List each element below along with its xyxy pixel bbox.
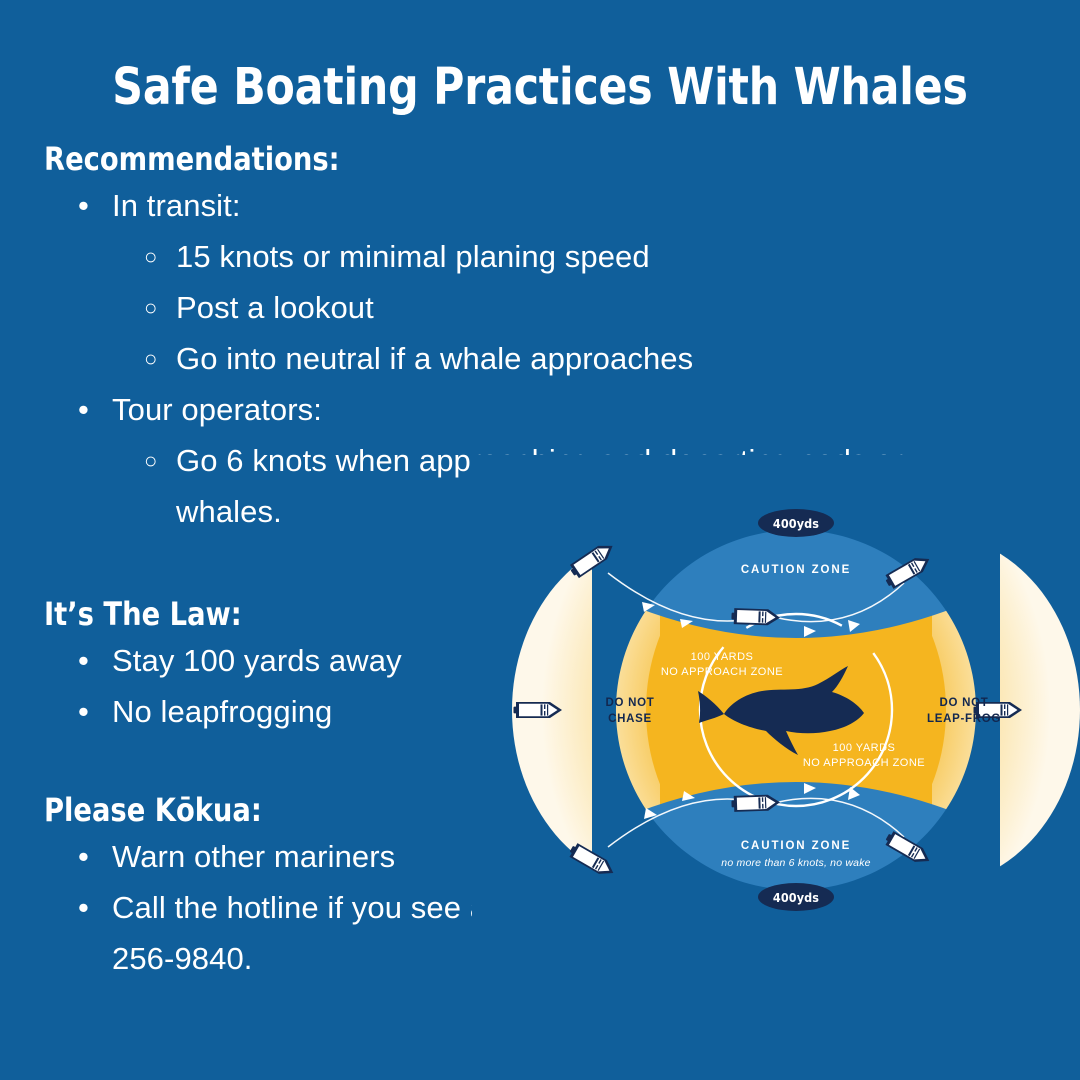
do-not-leapfrog-line2: LEAP-FROG [927, 713, 1001, 725]
bullet-icon: • [78, 384, 89, 435]
no-approach-upper-line1: 100 YARDS [691, 651, 754, 663]
bullet-icon: • [78, 635, 89, 686]
list-item-label: Stay 100 yards away [112, 643, 402, 678]
sub-bullet-icon: ○ [144, 231, 157, 282]
list-item-label: In transit: [112, 188, 241, 223]
section-heading-recommendations: Recommendations: [44, 140, 928, 178]
caution-zone-top-label: CAUTION ZONE [741, 564, 851, 576]
list-item-label: Tour operators: [112, 392, 322, 427]
list-item-label: 15 knots or minimal planing speed [176, 239, 650, 274]
bullet-icon: • [78, 882, 89, 933]
svg-text:400yds: 400yds [773, 516, 819, 531]
distance-pill-bottom: 400yds [758, 883, 834, 911]
list-item-label: Warn other mariners [112, 839, 395, 874]
bullet-icon: • [78, 686, 89, 737]
caution-zone-bottom-sub: no more than 6 knots, no wake [721, 857, 870, 869]
svg-text:400yds: 400yds [773, 890, 819, 905]
list-item-label: Go into neutral if a whale approaches [176, 341, 693, 376]
no-approach-upper-line2: NO APPROACH ZONE [661, 666, 783, 678]
list-item: • In transit: [44, 180, 974, 231]
distance-pill-top: 400yds [758, 509, 834, 537]
whale-approach-zones-diagram: CAUTION ZONE CAUTION ZONE no more than 6… [512, 495, 1080, 925]
infographic-root: Safe Boating Practices With Whales Recom… [0, 0, 1080, 1080]
page-title: Safe Boating Practices With Whales [38, 58, 1042, 117]
bullet-icon: • [78, 831, 89, 882]
list-item-label: No leapfrogging [112, 694, 332, 729]
list-item: ○ 15 knots or minimal planing speed [44, 231, 974, 282]
list-item-label: Post a lookout [176, 290, 374, 325]
do-not-leapfrog-line1: DO NOT [940, 697, 989, 709]
list-item: • Tour operators: [44, 384, 974, 435]
no-approach-lower-line1: 100 YARDS [833, 742, 896, 754]
caution-zone-bottom-label: CAUTION ZONE [741, 840, 851, 852]
list-item: ○ Post a lookout [44, 282, 974, 333]
list-item: ○ Go into neutral if a whale approaches [44, 333, 974, 384]
do-not-chase-line1: DO NOT [606, 697, 655, 709]
bullet-icon: • [78, 180, 89, 231]
sub-bullet-icon: ○ [144, 333, 157, 384]
do-not-chase-line2: CHASE [608, 713, 652, 725]
sub-bullet-icon: ○ [144, 282, 157, 333]
no-approach-lower-line2: NO APPROACH ZONE [803, 757, 925, 769]
sub-bullet-icon: ○ [144, 435, 157, 486]
